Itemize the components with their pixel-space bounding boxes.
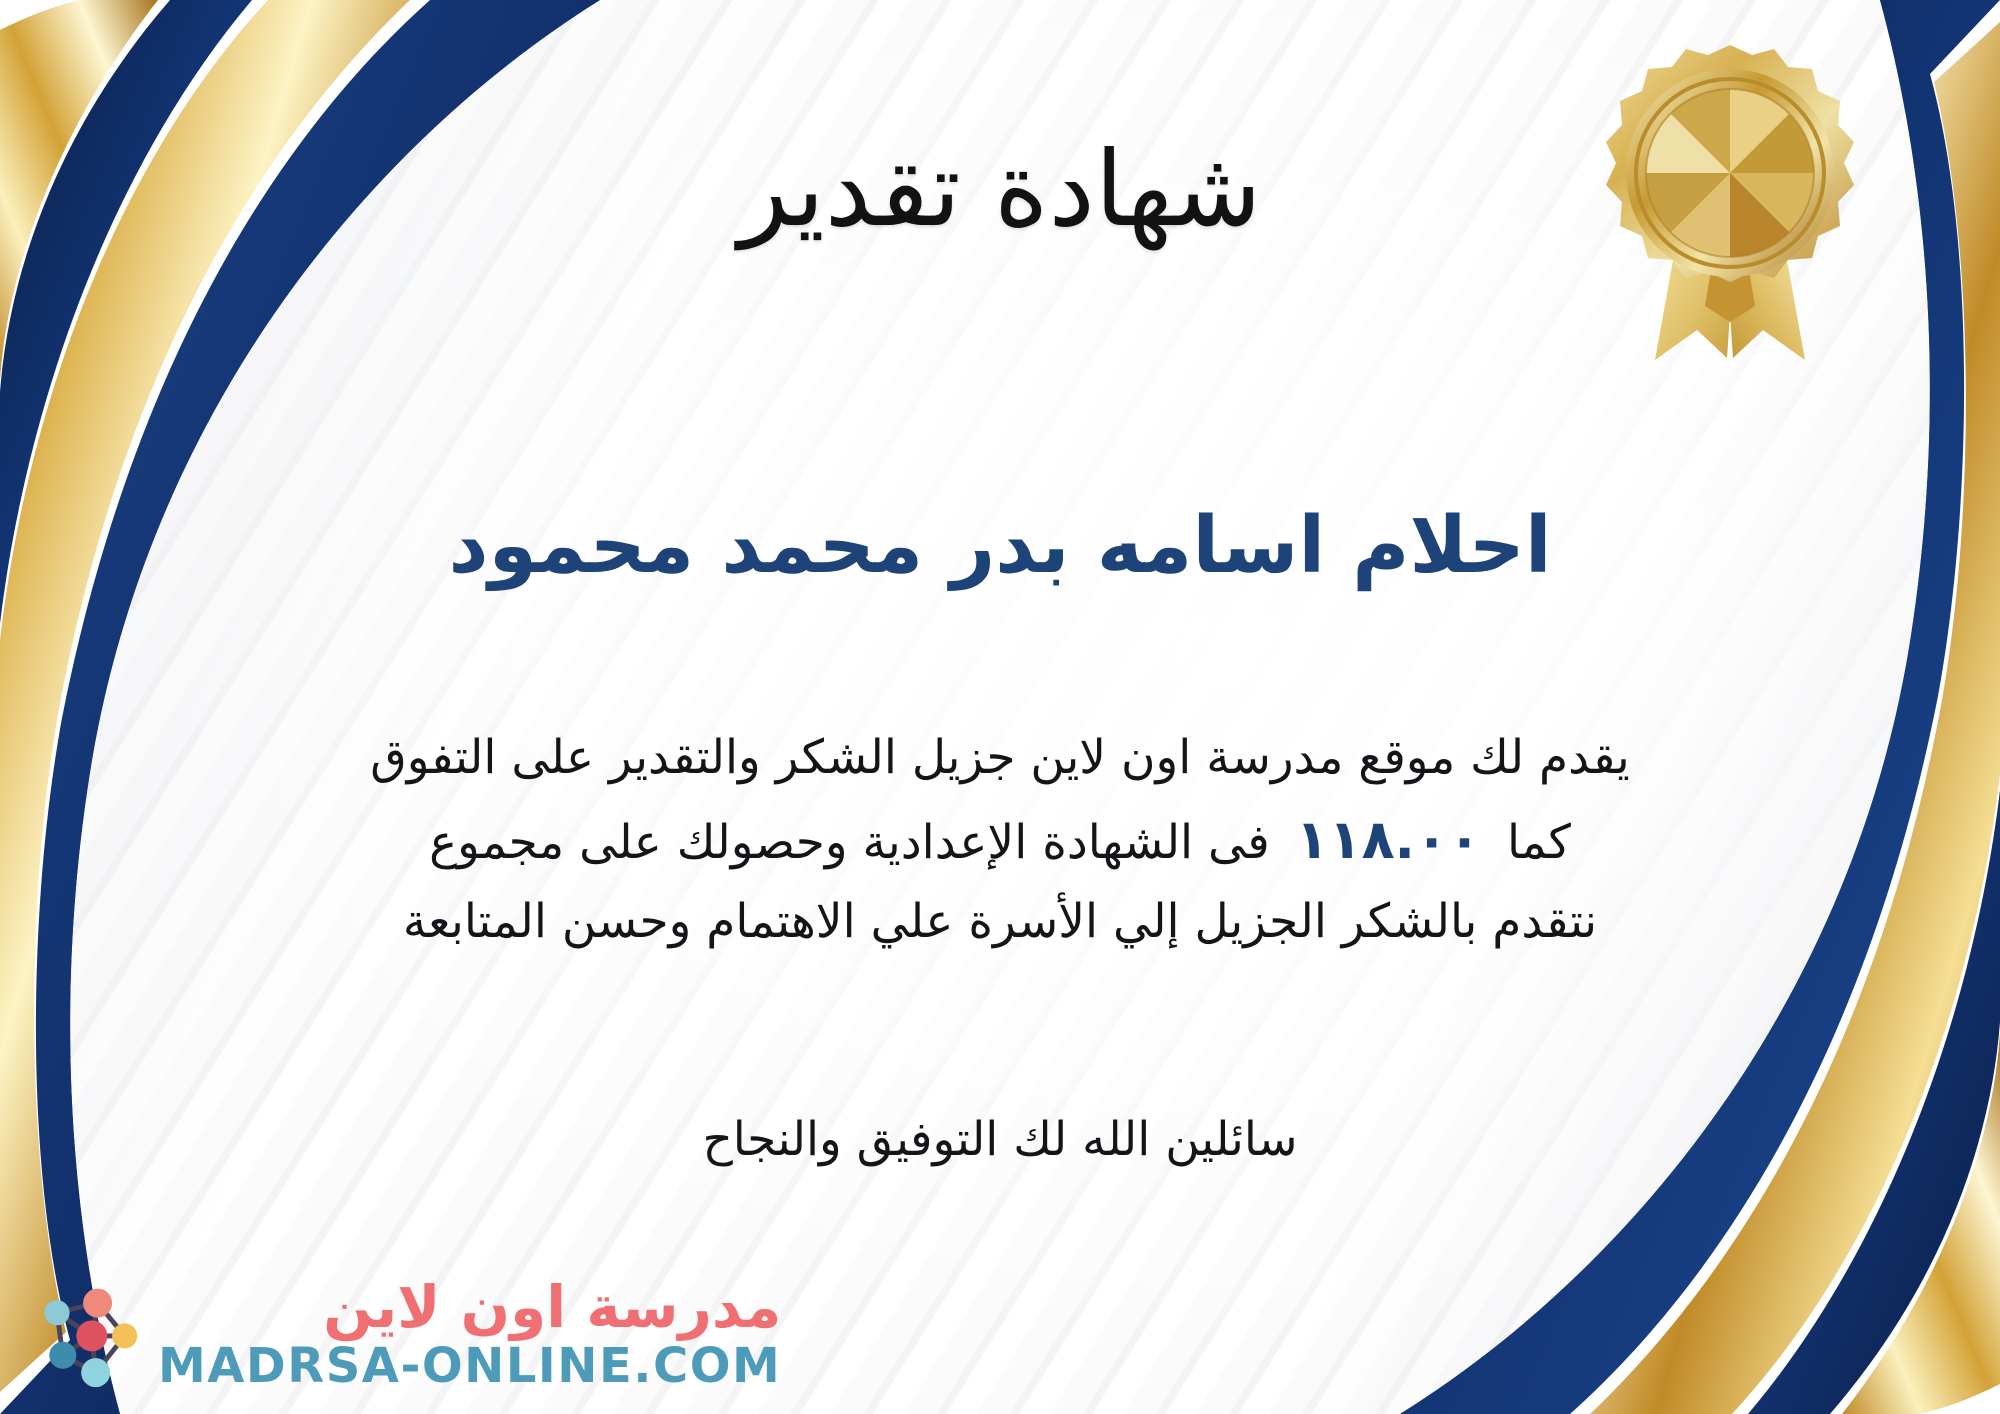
certificate-title: شهادة تقدير	[0, 128, 2000, 251]
body-line-2-prefix: فى الشهادة الإعدادية وحصولك على مجموع	[429, 815, 1270, 870]
body-line-3: نتقدم بالشكر الجزيل إلي الأسرة علي الاهت…	[60, 884, 1940, 960]
body-line-2-suffix: كما	[1507, 815, 1571, 870]
closing-wish: سائلين الله لك التوفيق والنجاح	[0, 1105, 2000, 1176]
network-nodes-icon	[28, 1276, 144, 1392]
body-line-2: كما١١٨.٠٠فى الشهادة الإعدادية وحصولك على…	[60, 796, 1940, 883]
brand-website: MADRSA-ONLINE.COM	[158, 1342, 781, 1390]
brand-text-block: مدرسة اون لاين MADRSA-ONLINE.COM	[158, 1278, 781, 1390]
score-value: ١١٨.٠٠	[1270, 808, 1507, 871]
recipient-name: احلام اسامه بدر محمد محمود	[0, 500, 2000, 594]
certificate-canvas: شهادة تقدير احلام اسامه بدر محمد محمود ي…	[0, 0, 2000, 1414]
brand-arabic-name: مدرسة اون لاين	[323, 1278, 781, 1336]
body-line-1: يقدم لك موقع مدرسة اون لاين جزيل الشكر و…	[60, 720, 1940, 796]
brand-logo[interactable]: مدرسة اون لاين MADRSA-ONLINE.COM	[28, 1276, 781, 1392]
certificate-body: يقدم لك موقع مدرسة اون لاين جزيل الشكر و…	[60, 720, 1940, 960]
